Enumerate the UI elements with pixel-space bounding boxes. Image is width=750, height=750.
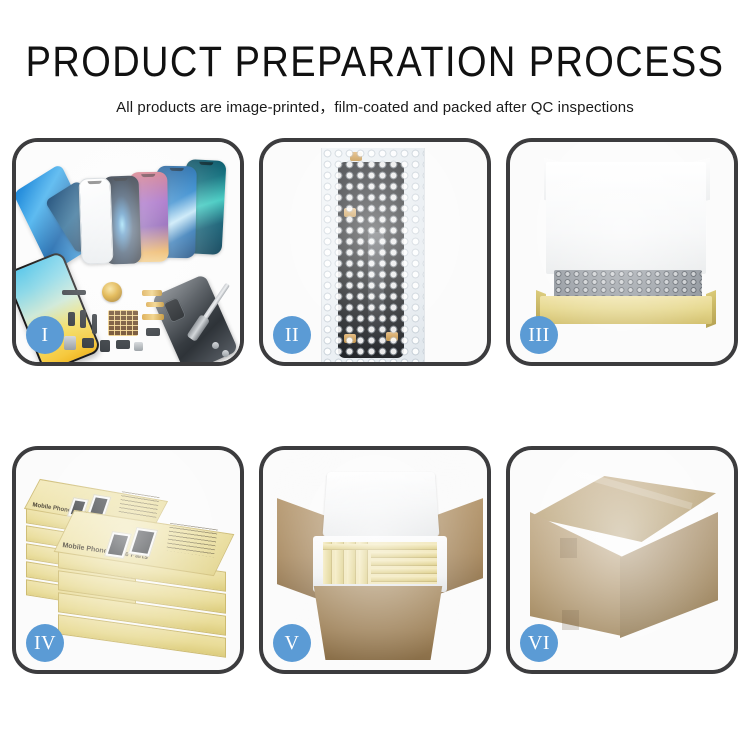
small-part [146, 328, 160, 336]
process-step-panel-5: V [259, 446, 491, 674]
small-part [68, 312, 75, 326]
yellow-box-front [540, 296, 712, 324]
bubble-texture [322, 148, 424, 366]
cardboard-carton-front [305, 586, 451, 660]
yellow-boxes-inside [323, 542, 437, 584]
small-part [100, 340, 110, 352]
step-badge-6: VI [520, 624, 558, 662]
small-part [82, 338, 94, 348]
small-part [142, 290, 162, 296]
small-part [80, 310, 86, 328]
screen-protector-glass [79, 177, 114, 264]
step-badge-5: V [273, 624, 311, 662]
product-preparation-infographic: PRODUCT PREPARATION PROCESS All products… [0, 0, 750, 750]
small-part [134, 342, 143, 351]
bubble-wrapped-contents [554, 270, 702, 298]
small-part [146, 302, 164, 307]
process-step-panel-6: VI [506, 446, 738, 674]
small-part [92, 314, 97, 334]
process-step-panel-1: I [12, 138, 244, 366]
step-badge-2: II [273, 316, 311, 354]
process-step-panel-4: Mobile Phone Spare Parts Mobile Phone Sp… [12, 446, 244, 674]
carton-tab [560, 538, 577, 558]
chip-grid-part [108, 310, 138, 336]
step-badge-1: I [26, 316, 64, 354]
screw-part [212, 342, 219, 349]
step-badge-3: III [520, 316, 558, 354]
process-step-panel-2: II [259, 138, 491, 366]
small-part [64, 336, 76, 350]
header: PRODUCT PREPARATION PROCESS All products… [0, 38, 750, 117]
foam-box-lid [322, 472, 439, 537]
process-steps-grid: I II [12, 138, 738, 674]
small-part [62, 290, 86, 295]
screw-part [222, 350, 229, 357]
speaker-coil-part [102, 282, 122, 302]
white-foam-lining [546, 162, 706, 274]
page-subtitle: All products are image-printed，film-coat… [0, 96, 750, 117]
step-badge-4: IV [26, 624, 64, 662]
small-part [116, 340, 130, 349]
carton-tab [562, 610, 579, 630]
process-step-panel-3: III [506, 138, 738, 366]
bubble-wrap-bag [321, 148, 425, 366]
page-title: PRODUCT PREPARATION PROCESS [0, 38, 750, 87]
small-part [142, 314, 164, 320]
